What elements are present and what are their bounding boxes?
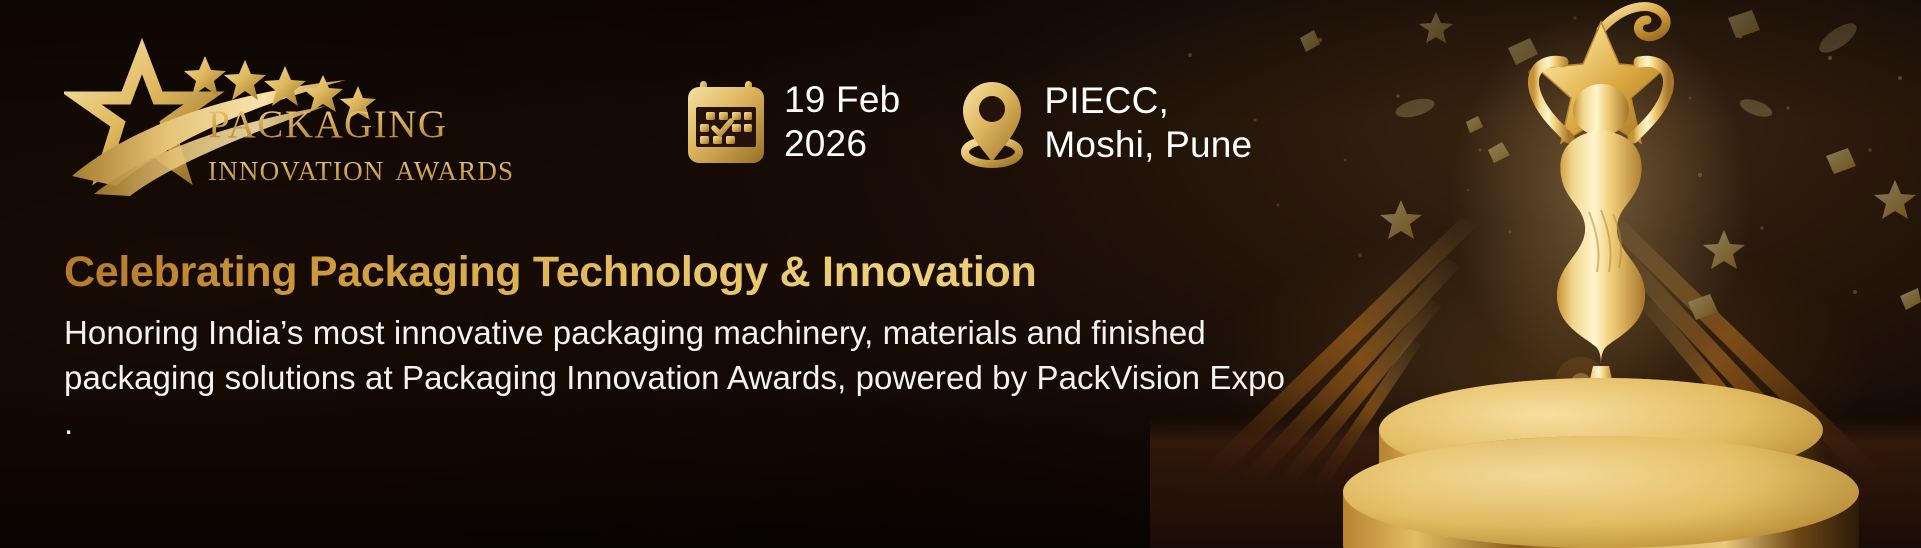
banner-content: Packaging Innovation Awards <box>0 0 1340 548</box>
location-pin-icon <box>958 78 1026 168</box>
logo-line-innovation-awards: Innovation Awards <box>208 146 568 190</box>
body-text: Honoring India’s most innovative packagi… <box>64 310 1294 445</box>
headline: Celebrating Packaging Technology & Innov… <box>64 244 1294 300</box>
event-info-row: 19 Feb 2026 PIECC, Moshi, Pune <box>686 78 1252 168</box>
event-venue: PIECC, Moshi, Pune <box>958 78 1252 168</box>
copy-block: Celebrating Packaging Technology & Innov… <box>64 244 1294 445</box>
award-trophy-scene <box>1301 0 1921 548</box>
event-date: 19 Feb 2026 <box>686 78 900 166</box>
podium <box>1343 378 1859 548</box>
event-venue-text: PIECC, Moshi, Pune <box>1044 79 1252 167</box>
event-date-text: 19 Feb 2026 <box>784 78 900 166</box>
logo-wordmark: Packaging Innovation Awards <box>208 90 568 190</box>
logo-line-packaging: Packaging <box>208 90 568 148</box>
awards-banner: Packaging Innovation Awards <box>0 0 1921 548</box>
calendar-icon <box>686 79 766 165</box>
